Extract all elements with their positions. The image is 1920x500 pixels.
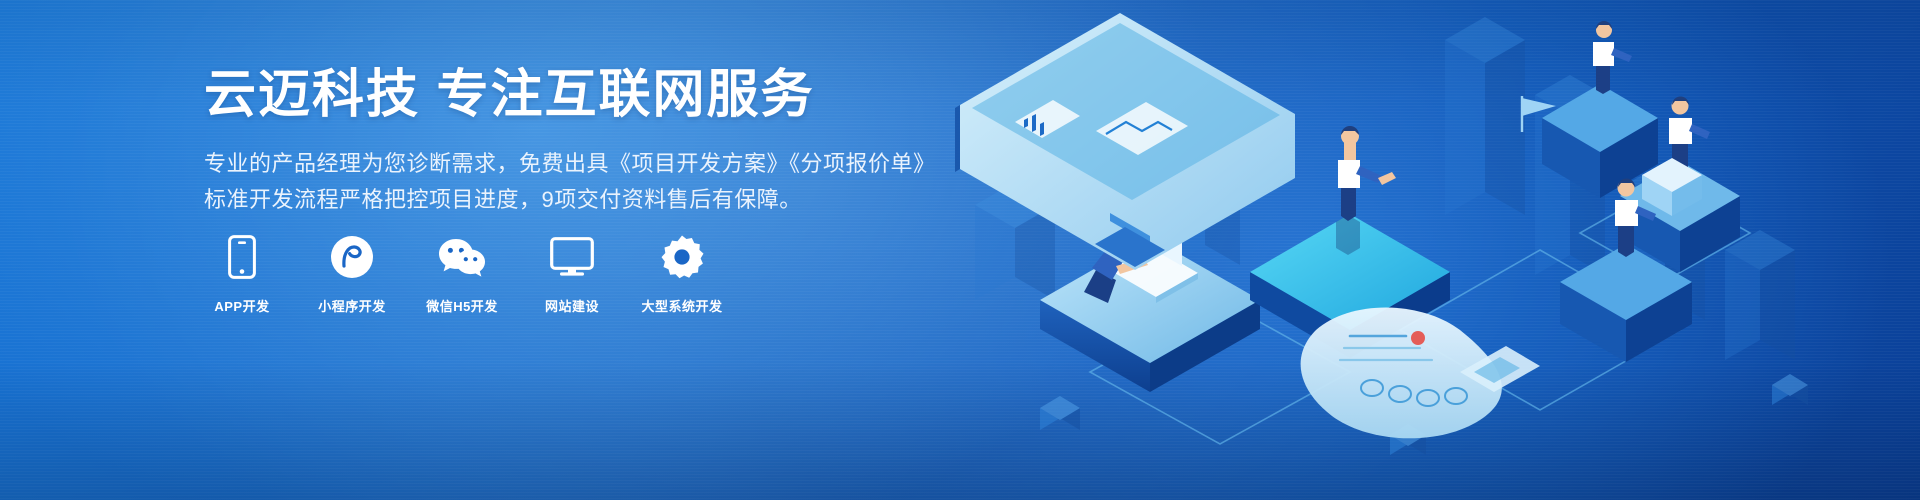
subtitle-line-2: 标准开发流程严格把控项目进度，9项交付资料售后有保障。: [204, 182, 924, 218]
gear-icon: [660, 232, 704, 282]
wechat-icon: [438, 232, 486, 282]
service-label: 微信H5开发: [426, 296, 498, 315]
service-label: 小程序开发: [318, 296, 386, 315]
service-label: 网站建设: [545, 296, 599, 315]
page-title: 云迈科技 专注互联网服务: [204, 66, 924, 124]
hero-copy: 云迈科技 专注互联网服务 专业的产品经理为您诊断需求，免费出具《项目开发方案》《…: [204, 66, 924, 217]
service-item-wechat-h5[interactable]: 微信H5开发: [424, 232, 500, 315]
accent-dot: [1411, 331, 1425, 345]
service-item-large-system[interactable]: 大型系统开发: [644, 232, 720, 315]
mini-program-icon: [330, 232, 374, 282]
service-item-app[interactable]: APP开发: [204, 232, 280, 315]
subtitle-line-1: 专业的产品经理为您诊断需求，免费出具《项目开发方案》《分项报价单》: [204, 146, 924, 182]
person-right-upper: [1593, 21, 1632, 94]
mobile-phone-icon: [228, 232, 256, 282]
service-label: 大型系统开发: [642, 296, 723, 315]
service-list: APP开发 小程序开发 微信: [204, 232, 720, 315]
service-item-mini-program[interactable]: 小程序开发: [314, 232, 390, 315]
service-item-website[interactable]: 网站建设: [534, 232, 610, 315]
data-flow-sheet: [1301, 308, 1540, 439]
service-label: APP开发: [214, 296, 269, 315]
hero-banner: 云迈科技 专注互联网服务 专业的产品经理为您诊断需求，免费出具《项目开发方案》《…: [0, 0, 1920, 500]
monitor-icon: [550, 232, 594, 282]
isometric-illustration: [920, 0, 1920, 500]
